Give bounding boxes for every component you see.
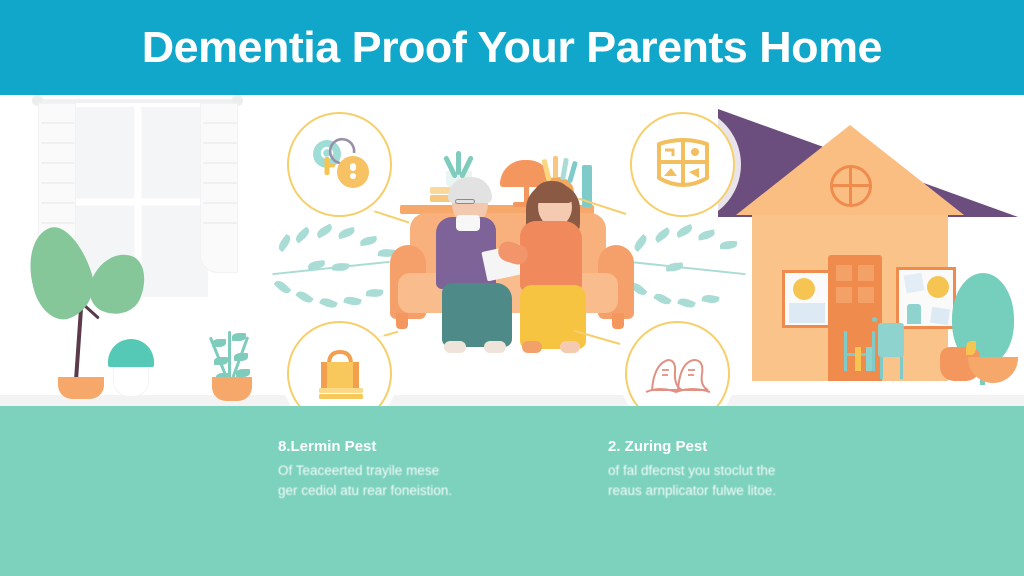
illustration-scene — [0, 95, 1024, 406]
badge-window-grid[interactable] — [630, 112, 735, 217]
foliage-spray-left — [262, 221, 402, 321]
floor-strip — [0, 395, 1024, 406]
text-block-left-heading: 8.Lermin Pest — [278, 438, 458, 455]
header-banner: Dementia Proof Your Parents Home — [0, 0, 1024, 95]
white-pot — [113, 367, 149, 397]
page-title: Dementia Proof Your Parents Home — [142, 23, 882, 73]
elder-glasses — [455, 199, 475, 204]
badge-keys-lock[interactable] — [287, 112, 392, 217]
text-panel: 8.Lermin Pest Of Teaceerted trayile mese… — [0, 406, 1024, 576]
fan-plant — [108, 339, 154, 367]
text-block-left-body: Of Teaceerted trayile mese ger cediol at… — [278, 461, 458, 500]
woman-shoe-right — [560, 341, 580, 353]
badge-handbag[interactable] — [287, 321, 392, 406]
elder-collar — [456, 215, 480, 231]
porch-candle-right — [866, 347, 872, 371]
garden-bowl — [968, 357, 1018, 383]
curtain-right — [200, 103, 238, 273]
sprig-pot — [212, 377, 252, 401]
text-block-right-heading: 2. Zuring Pest — [608, 438, 788, 455]
text-block-right-body: of fal dfecnst you stoclut the reaus arn… — [608, 461, 788, 500]
foliage-spray-right — [618, 221, 758, 321]
door-knob[interactable] — [872, 317, 877, 322]
woman-shoe-left — [522, 341, 542, 353]
keys-and-padlock-icon — [306, 137, 374, 193]
porch-candle-left — [855, 347, 861, 371]
garden-leaf — [966, 341, 976, 355]
two-birds-icon — [642, 348, 714, 400]
house-window-left — [782, 270, 832, 328]
elder-shoe-left — [444, 341, 466, 353]
elder-legs — [442, 283, 512, 347]
text-block-right: 2. Zuring Pest of fal dfecnst you stoclu… — [608, 438, 788, 500]
window-grid-icon — [653, 134, 713, 196]
handbag-icon — [309, 346, 371, 402]
woman-legs — [520, 285, 586, 349]
house-window-right — [896, 267, 956, 329]
woman-torso — [520, 221, 582, 291]
monstera-pot — [58, 377, 104, 399]
gable-round-window — [830, 165, 872, 207]
badge-two-birds[interactable] — [625, 321, 730, 406]
elder-shoe-right — [484, 341, 506, 353]
text-block-left: 8.Lermin Pest Of Teaceerted trayile mese… — [278, 438, 458, 500]
infographic-poster: Dementia Proof Your Parents Home — [0, 0, 1024, 576]
